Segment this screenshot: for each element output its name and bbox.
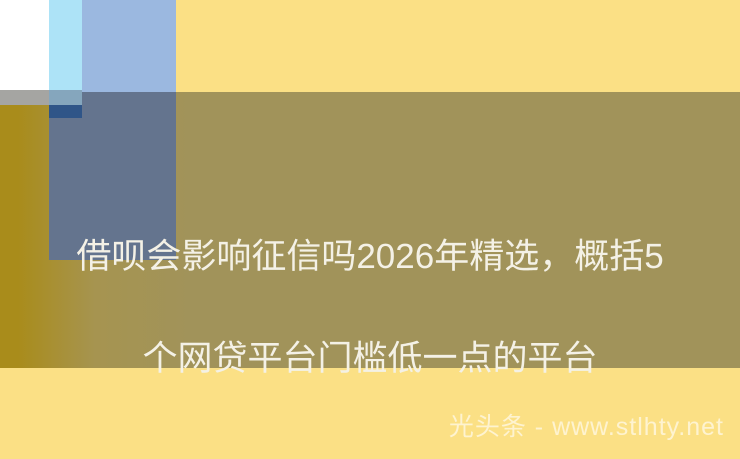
periwinkle-column (82, 0, 176, 92)
poster-canvas: 借呗会影响征信吗2026年精选，概括5 个网贷平台门槛低一点的平台 光头条 - … (0, 0, 740, 459)
gray-bar (0, 90, 49, 105)
dark-blue-column-foot (49, 105, 82, 118)
white-rectangle (0, 0, 49, 90)
watermark: 光头条 - www.stlhty.net (449, 407, 724, 443)
headline-line-1: 借呗会影响征信吗2026年精选，概括5 (0, 231, 740, 282)
headline: 借呗会影响征信吗2026年精选，概括5 个网贷平台门槛低一点的平台 (0, 180, 740, 435)
light-blue-column-shadow (49, 90, 82, 105)
headline-line-2: 个网贷平台门槛低一点的平台 (0, 333, 740, 384)
